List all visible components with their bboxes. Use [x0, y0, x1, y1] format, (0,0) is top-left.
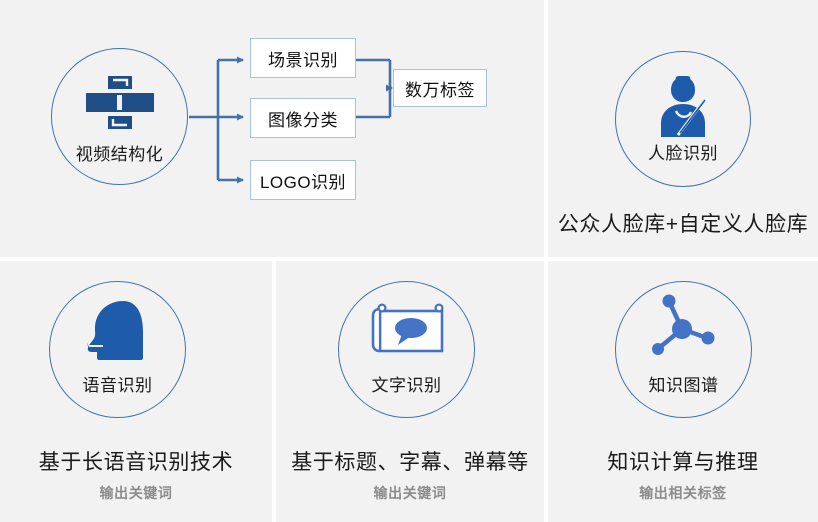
capability-overview: 视频结构化	[0, 0, 818, 522]
speech-recognition-subcaption: 输出关键词	[0, 483, 272, 503]
text-banner-icon	[368, 303, 448, 363]
flow-box-image-classification[interactable]: 图像分类	[250, 98, 356, 138]
face-recognition-caption: 公众人脸库+自定义人脸库	[548, 208, 818, 238]
face-recognition-icon	[654, 75, 712, 137]
text-recognition-caption: 基于标题、字幕、弹幕等	[276, 446, 544, 476]
speech-recognition-caption: 基于长语音识别技术	[0, 446, 272, 476]
panel-video-structuring: 视频结构化	[0, 0, 544, 257]
face-recognition-circle-label: 人脸识别	[615, 139, 751, 164]
knowledge-graph-subcaption: 输出相关标签	[548, 483, 818, 503]
panel-speech-recognition: 语音识别 基于长语音识别技术 输出关键词	[0, 261, 272, 522]
flow-box-scene-recognition[interactable]: 场景识别	[250, 38, 356, 78]
panel-text-recognition: 文字识别 基于标题、字幕、弹幕等 输出关键词	[276, 261, 544, 522]
text-recognition-subcaption: 输出关键词	[276, 483, 544, 503]
panel-face-recognition: 人脸识别 公众人脸库+自定义人脸库	[548, 0, 818, 257]
speech-recognition-circle-label: 语音识别	[49, 371, 186, 396]
flow-box-tens-of-thousands-tags[interactable]: 数万标签	[393, 69, 487, 107]
flow-box-logo-recognition[interactable]: LOGO识别	[250, 160, 356, 200]
knowledge-graph-circle-label: 知识图谱	[615, 371, 752, 396]
panel-knowledge-graph: 知识图谱 知识计算与推理 输出相关标签	[548, 261, 818, 522]
knowledge-graph-caption: 知识计算与推理	[548, 446, 818, 476]
knowledge-graph-icon	[643, 289, 725, 365]
text-recognition-circle-label: 文字识别	[338, 371, 475, 396]
speech-head-icon	[87, 299, 149, 361]
